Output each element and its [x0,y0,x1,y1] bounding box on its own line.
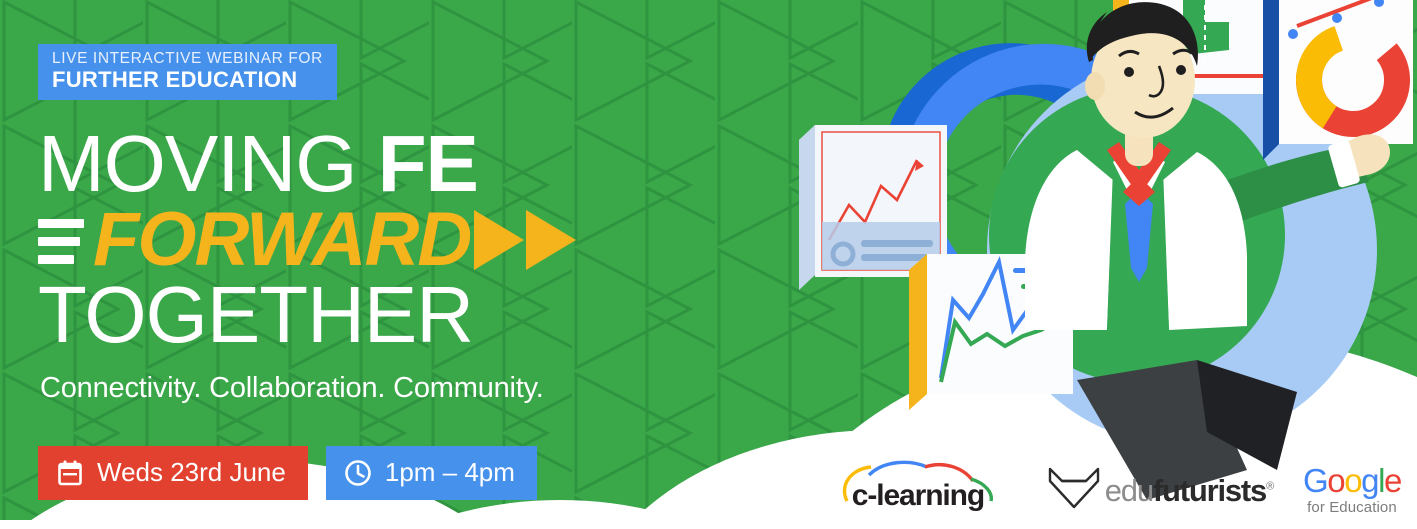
event-details: Weds 23rd June 1pm – 4pm [38,446,537,500]
edufuturists-wordmark: edufuturists® [1105,475,1273,506]
calendar-icon [56,459,84,487]
clock-icon [344,459,372,487]
speed-lines-icon [38,216,84,264]
edufuturists-edu: edu [1105,473,1153,508]
registered-trademark-icon: ® [1266,480,1273,492]
headline-line-two: FORWARD [38,202,698,278]
webinar-promo-banner: LIVE INTERACTIVE WEBINAR FOR FURTHER EDU… [0,0,1417,529]
badge-line-two: FURTHER EDUCATION [52,68,323,91]
logo-google-for-education: Google for Education [1303,459,1401,515]
logo-c-learning: c-learning [831,459,1016,515]
badge-line-one: LIVE INTERACTIVE WEBINAR FOR [52,51,323,67]
event-date-pill: Weds 23rd June [38,446,308,500]
businessman-dashboard-illustration [777,0,1417,529]
event-time-pill: 1pm – 4pm [326,446,537,500]
headline-line-one: MOVING FE [38,126,698,202]
banner-content: LIVE INTERACTIVE WEBINAR FOR FURTHER EDU… [38,0,738,529]
sponsor-logos: c-learning edufuturists® Google for Educ… [831,459,1401,515]
double-chevron-right-icon [472,208,582,272]
event-time-label: 1pm – 4pm [385,457,515,488]
edufuturists-futurists: futurists [1153,473,1266,508]
tagline: Connectivity. Collaboration. Community. [40,372,544,405]
google-wordmark: Google [1303,464,1401,497]
google-for-education-subtitle: for Education [1303,500,1401,515]
logo-edufuturists: edufuturists® [1046,459,1273,515]
event-date-label: Weds 23rd June [97,457,286,488]
headline-fe: FE [378,119,478,208]
webinar-badge: LIVE INTERACTIVE WEBINAR FOR FURTHER EDU… [38,44,337,100]
headline-line-three: TOGETHER [38,276,698,354]
fox-head-icon [1046,463,1102,511]
headline-group: MOVING FE FORWARD TOGETHER [38,126,698,354]
c-learning-wordmark: c-learning [852,481,984,511]
headline-moving: MOVING [38,119,378,208]
headline-forward: FORWARD [93,205,470,275]
